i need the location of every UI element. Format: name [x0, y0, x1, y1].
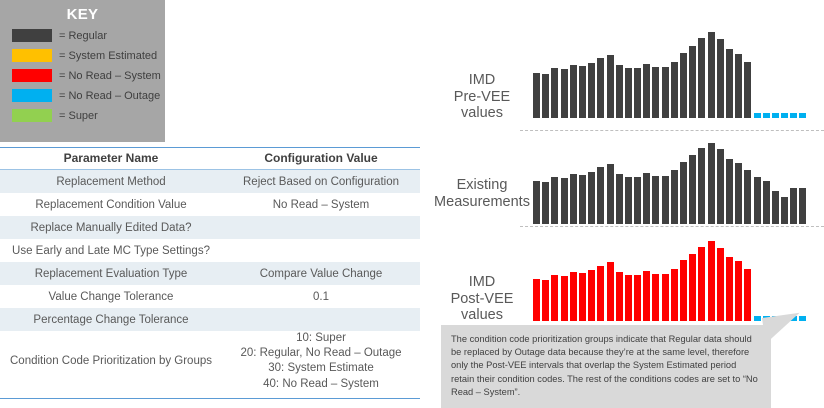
chart-bar [735, 163, 742, 224]
chart-bar [542, 182, 549, 224]
chart-bar [561, 69, 568, 118]
chart-bar [698, 247, 705, 321]
chart-bar [625, 177, 632, 224]
chart-bar [726, 49, 733, 118]
table-row: Replacement Evaluation Type Compare Valu… [0, 262, 420, 285]
table-row: Condition Code Prioritization by Groups … [0, 331, 420, 392]
chart-bar [754, 177, 761, 224]
table-row: Replacement Method Reject Based on Confi… [0, 170, 420, 194]
table-row: Percentage Change Tolerance [0, 308, 420, 331]
chart-bar [652, 67, 659, 118]
chart-bar [763, 181, 770, 224]
chart-bar [726, 257, 733, 321]
chart-bar [726, 159, 733, 224]
chart-bar [662, 274, 669, 321]
chart-bar [689, 46, 696, 118]
chart-bar [708, 241, 715, 321]
table-bottom-rule [0, 398, 420, 399]
cell-configuration-value: Reject Based on Configuration [222, 170, 420, 194]
table-row: Use Early and Late MC Type Settings? [0, 239, 420, 262]
chart-bar [643, 173, 650, 224]
swatch-no-read-outage-icon [12, 89, 52, 102]
chart-bar [588, 63, 595, 118]
chart-bar [662, 176, 669, 224]
key-legend-box: KEY = Regular = System Estimated = No Re… [0, 0, 165, 142]
outage-dash-marker [754, 113, 761, 118]
swatch-regular-icon [12, 29, 52, 42]
key-item-label: = No Read – Outage [59, 90, 160, 102]
chart-bar [607, 262, 614, 321]
chart-bar [579, 175, 586, 224]
cell-parameter-name: Use Early and Late MC Type Settings? [0, 239, 222, 262]
chart-bar [671, 170, 678, 224]
chart-bar [551, 275, 558, 321]
column-header-configuration-value: Configuration Value [222, 147, 420, 170]
chart-imd-post-vee: IMD Post-VEE values [432, 232, 824, 327]
table-row: Value Change Tolerance 0.1 [0, 285, 420, 308]
chart-bar [652, 274, 659, 321]
chart-bar [772, 191, 779, 224]
chart-bar [625, 275, 632, 321]
chart-bar [708, 32, 715, 118]
key-item-regular: = Regular [12, 28, 165, 43]
chart-bar [680, 162, 687, 224]
chart-bar [717, 248, 724, 321]
chart-bar [533, 181, 540, 224]
chart-bar [616, 174, 623, 224]
chart-bar [689, 155, 696, 224]
swatch-super-icon [12, 109, 52, 122]
chart-bar [579, 66, 586, 118]
chart-bar [533, 73, 540, 118]
cell-parameter-name: Replacement Method [0, 170, 222, 194]
chart-bar [698, 148, 705, 224]
chart-bar [744, 269, 751, 321]
plot-area-pre-vee [533, 22, 821, 118]
key-item-label: = Regular [59, 30, 107, 42]
plot-area-existing [533, 133, 821, 224]
chart-bar [634, 177, 641, 224]
chart-bar [790, 188, 797, 224]
chart-bar [708, 143, 715, 224]
key-item-no-read-outage: = No Read – Outage [12, 88, 165, 103]
chart-bar [616, 65, 623, 118]
cell-parameter-name: Replacement Evaluation Type [0, 262, 222, 285]
cell-parameter-name: Condition Code Prioritization by Groups [0, 331, 222, 392]
chart-bar [625, 68, 632, 118]
cell-parameter-name: Value Change Tolerance [0, 285, 222, 308]
cell-configuration-value: 10: Super 20: Regular, No Read – Outage … [222, 331, 420, 392]
chart-existing-measurements: Existing Measurements [432, 133, 824, 228]
column-header-parameter-name: Parameter Name [0, 147, 222, 170]
chart-bar [652, 176, 659, 224]
cell-parameter-name: Replace Manually Edited Data? [0, 216, 222, 239]
chart-bar [671, 62, 678, 118]
chart-bar [616, 272, 623, 321]
swatch-system-estimated-icon [12, 49, 52, 62]
chart-bar [607, 55, 614, 118]
chart-bar [542, 280, 549, 321]
outage-dash-marker [799, 113, 806, 118]
chart-bar [717, 149, 724, 224]
chart-bar [717, 39, 724, 118]
chart-bar [588, 172, 595, 224]
chart-bar [561, 276, 568, 321]
chart-bar [597, 58, 604, 118]
chart-bar [634, 68, 641, 118]
callout-explanation: The condition code prioritization groups… [441, 325, 771, 408]
chart-bar [781, 197, 788, 224]
chart-bar [551, 68, 558, 118]
chart-bar [643, 271, 650, 321]
cell-configuration-value: No Read – System [222, 193, 420, 216]
chart-imd-pre-vee: IMD Pre-VEE values [432, 22, 824, 122]
chart-bar [689, 254, 696, 321]
chart-label-existing: Existing Measurements [432, 177, 532, 210]
chart-bar [744, 170, 751, 224]
chart-bar [597, 167, 604, 224]
table-header-row: Parameter Name Configuration Value [0, 147, 420, 170]
outage-dash-marker [772, 113, 779, 118]
key-item-label: = No Read – System [59, 70, 161, 82]
table-row: Replace Manually Edited Data? [0, 216, 420, 239]
outage-dash-marker [754, 316, 761, 321]
outage-dash-marker [790, 113, 797, 118]
outage-dash-marker [763, 113, 770, 118]
chart-bar [570, 65, 577, 118]
chart-bar [634, 275, 641, 321]
chart-bar [579, 273, 586, 321]
plot-area-post-vee [533, 232, 821, 321]
cell-configuration-value [222, 239, 420, 262]
chart-bar [698, 38, 705, 118]
chart-bar [744, 62, 751, 118]
chart-bar [588, 270, 595, 321]
chart-bar [533, 279, 540, 321]
chart-bar [542, 74, 549, 118]
chart-bar [735, 261, 742, 321]
key-item-label: = System Estimated [59, 50, 157, 62]
chart-label-post-vee: IMD Post-VEE values [432, 274, 532, 324]
chart-bar [680, 53, 687, 119]
chart-bar [551, 177, 558, 224]
cell-configuration-value [222, 308, 420, 331]
chart-bar [607, 164, 614, 224]
chart-bar [561, 178, 568, 224]
outage-dash-marker [781, 113, 788, 118]
chart-bar [671, 269, 678, 321]
key-title: KEY [0, 6, 165, 23]
key-item-system-estimated: = System Estimated [12, 48, 165, 63]
chart-bar [662, 67, 669, 118]
parameter-configuration-table: Parameter Name Configuration Value Repla… [0, 147, 420, 392]
cell-parameter-name: Percentage Change Tolerance [0, 308, 222, 331]
chart-separator-dashed-1 [520, 130, 824, 131]
cell-configuration-value: 0.1 [222, 285, 420, 308]
chart-bar [735, 54, 742, 118]
key-item-super: = Super [12, 108, 165, 123]
swatch-no-read-system-icon [12, 69, 52, 82]
chart-bar [643, 64, 650, 118]
cell-configuration-value [222, 216, 420, 239]
chart-label-pre-vee: IMD Pre-VEE values [432, 72, 532, 122]
chart-bar [799, 188, 806, 224]
cell-parameter-name: Replacement Condition Value [0, 193, 222, 216]
chart-bar [597, 266, 604, 321]
chart-bar [570, 174, 577, 224]
cell-configuration-value: Compare Value Change [222, 262, 420, 285]
table-row: Replacement Condition Value No Read – Sy… [0, 193, 420, 216]
chart-separator-dashed-2 [520, 226, 824, 227]
chart-bar [570, 272, 577, 321]
chart-bar [680, 260, 687, 321]
key-item-no-read-system: = No Read – System [12, 68, 165, 83]
key-item-label: = Super [59, 110, 98, 122]
